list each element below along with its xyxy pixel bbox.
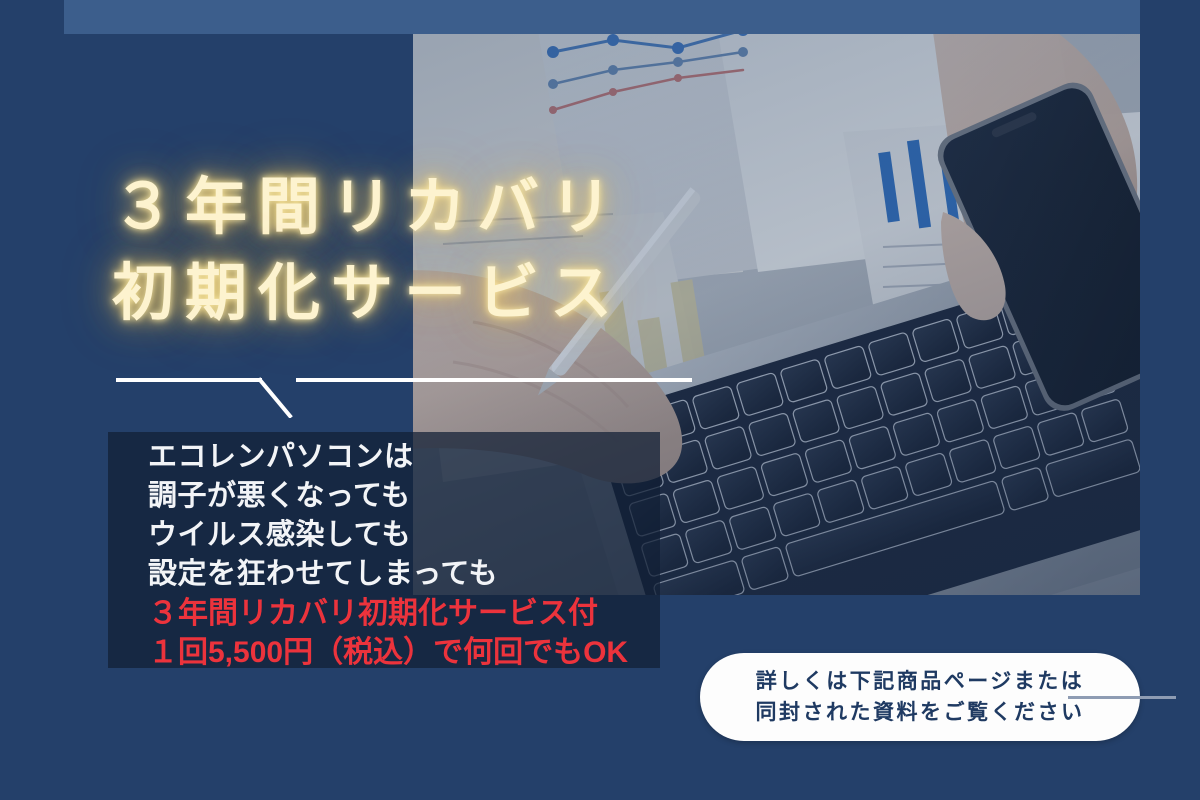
- body-line-4: 設定を狂わせてしまっても: [148, 555, 628, 594]
- body-line-6-highlight: １回5,500円（税込）で何回でもOK: [148, 633, 628, 672]
- headline-line-2: 初期化サービス: [112, 251, 623, 337]
- body-line-3: ウイルス感染しても: [148, 516, 628, 555]
- page-title: ３年間リカバリ 初期化サービス: [112, 165, 623, 336]
- callout-pill-text: 詳しくは下記商品ページまたは 同封された資料をご覧ください: [756, 666, 1085, 728]
- callout-rule-icon: [1068, 696, 1176, 699]
- headline-line-1: ３年間リカバリ: [112, 173, 623, 242]
- body-text-list: エコレンパソコンは 調子が悪くなっても ウイルス感染しても 設定を狂わせてしまっ…: [148, 438, 628, 672]
- promo-banner: ３年間リカバリ 初期化サービス エコレンパソコンは 調子が悪くなっても ウイルス…: [0, 0, 1200, 800]
- body-line-5-highlight: ３年間リカバリ初期化サービス付: [148, 594, 628, 633]
- bracket-divider-icon: [112, 358, 712, 418]
- top-accent-bar: [64, 0, 1140, 34]
- body-line-2: 調子が悪くなっても: [148, 477, 628, 516]
- body-line-1: エコレンパソコンは: [148, 438, 628, 477]
- callout-line-2: 同封された資料をご覧ください: [756, 697, 1085, 728]
- callout-line-1: 詳しくは下記商品ページまたは: [756, 666, 1085, 697]
